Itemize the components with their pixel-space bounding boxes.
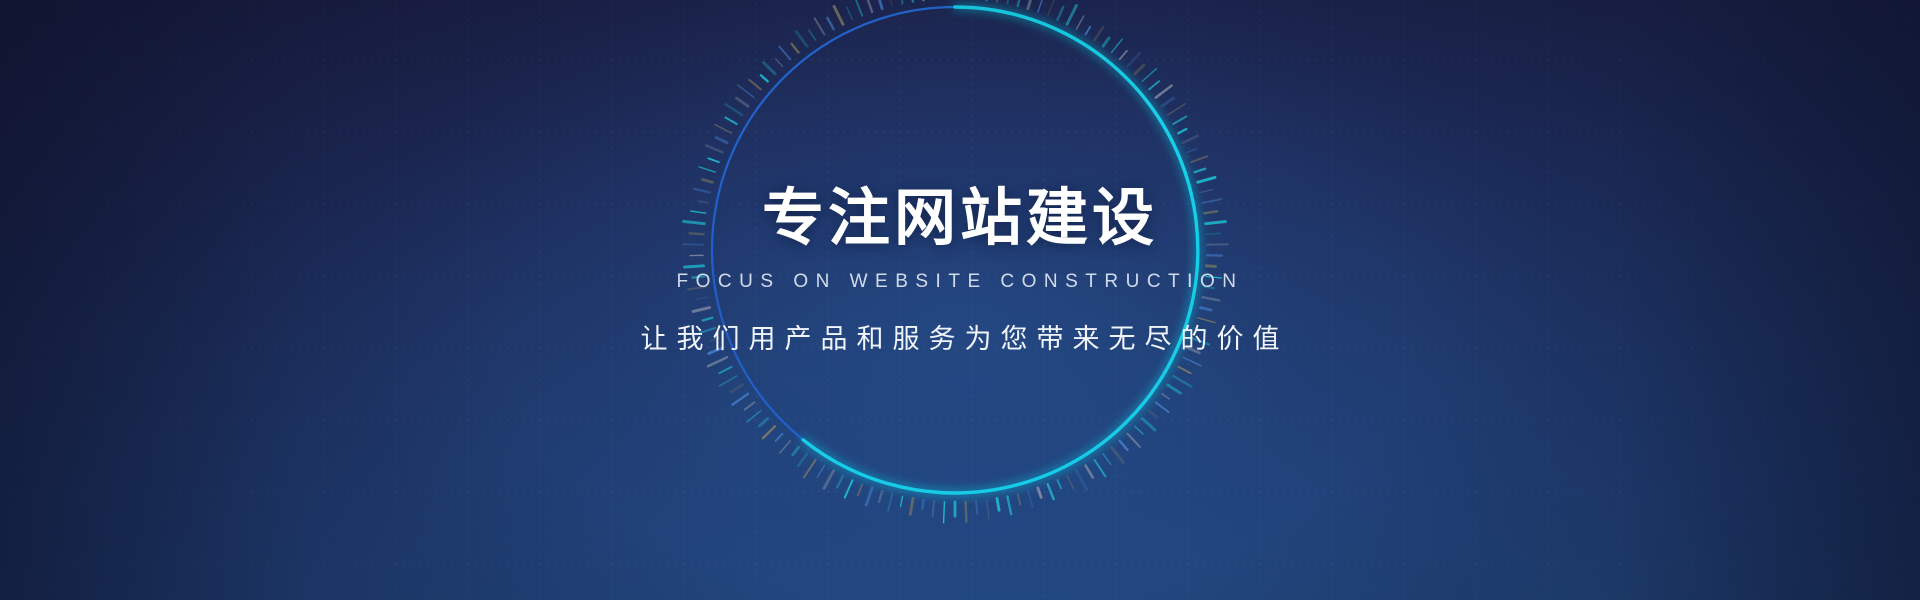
hero-tagline: 让我们用产品和服务为您带来无尽的价值 [0,317,1920,356]
hero-banner: 专注网站建设 FOCUS ON WEBSITE CONSTRUCTION 让我们… [0,0,1920,600]
hero-subtitle: FOCUS ON WEBSITE CONSTRUCTION [0,271,1920,293]
hero-copy: 专注网站建设 FOCUS ON WEBSITE CONSTRUCTION 让我们… [0,186,1920,356]
page-title: 专注网站建设 [0,186,1920,251]
